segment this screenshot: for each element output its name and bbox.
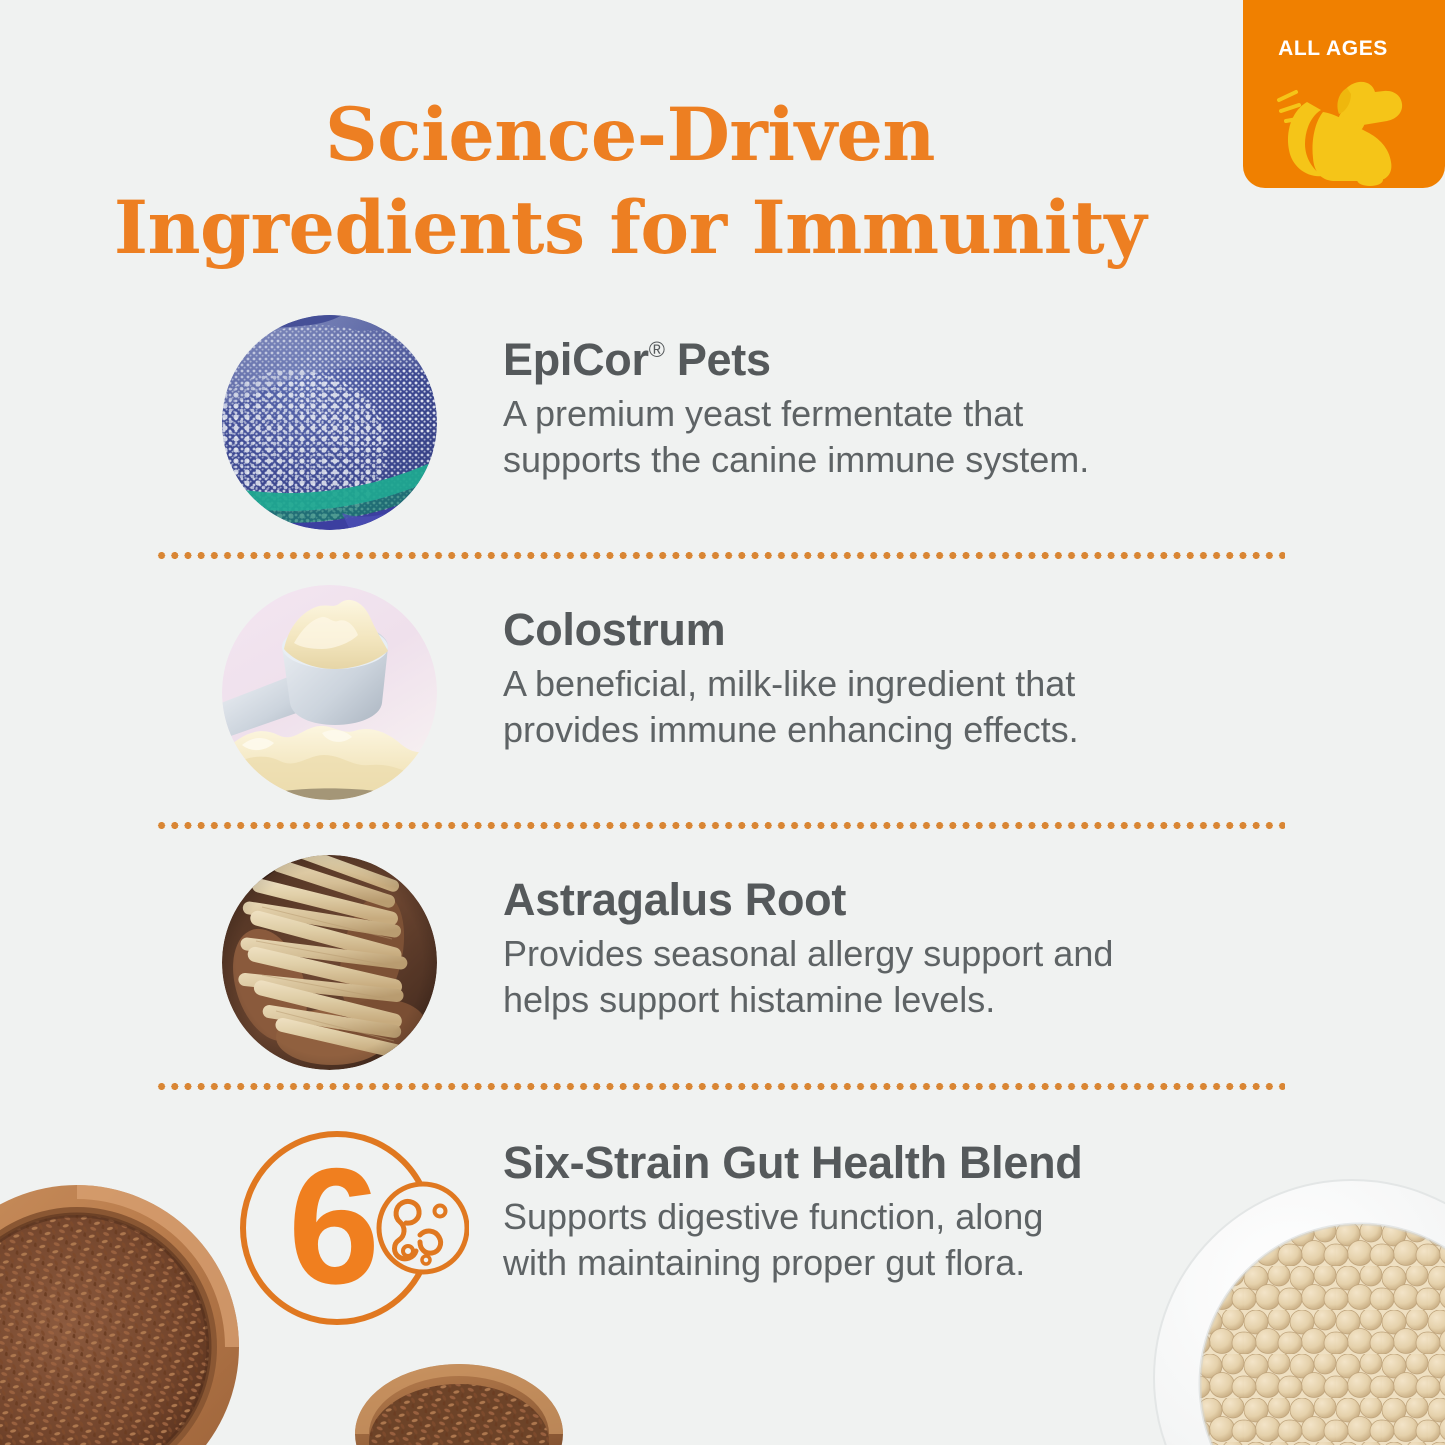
petri-dish-yeast-culture-photo	[222, 315, 437, 530]
ingredient-desc-six-strain-line-1: Supports digestive function, along	[503, 1194, 1233, 1240]
divider-2	[155, 822, 1285, 829]
ingredient-row-colostrum: Colostrum A beneficial, milk-like ingred…	[0, 585, 1445, 800]
astragalus-root-slices-photo	[222, 855, 437, 1070]
ingredient-desc-epicor-line-1: A premium yeast fermentate that	[503, 391, 1233, 437]
ingredient-text-six-strain: Six-Strain Gut Health Blend Supports dig…	[503, 1140, 1233, 1286]
colostrum-powder-scoop-photo	[222, 585, 437, 800]
all-ages-badge-label: ALL AGES	[1243, 37, 1423, 61]
ingredient-desc-six-strain-line-2: with maintaining proper gut flora.	[503, 1240, 1233, 1286]
ingredient-row-six-strain: Six-Strain Gut Health Blend Supports dig…	[0, 1140, 1445, 1340]
ingredient-title-epicor: EpiCor® Pets	[503, 337, 1233, 383]
ingredient-text-astragalus: Astragalus Root Provides seasonal allerg…	[503, 877, 1233, 1023]
ingredient-title-epicor-main: EpiCor	[503, 334, 649, 385]
wooden-spoon-flaxseed-photo	[352, 1338, 567, 1445]
sitting-dog-icon	[1263, 66, 1423, 188]
divider-1	[155, 552, 1285, 559]
ingredient-title-astragalus: Astragalus Root	[503, 877, 1233, 923]
page-title-line-2: Ingredients for Immunity	[0, 179, 1260, 278]
ingredient-desc-astragalus: Provides seasonal allergy support and he…	[503, 931, 1233, 1023]
ingredient-title-epicor-suffix: Pets	[665, 334, 771, 385]
ingredient-desc-colostrum-line-1: A beneficial, milk-like ingredient that	[503, 661, 1233, 707]
ingredient-desc-colostrum: A beneficial, milk-like ingredient that …	[503, 661, 1233, 753]
registered-trademark-icon: ®	[649, 337, 665, 362]
ingredient-title-colostrum: Colostrum	[503, 607, 1233, 653]
infographic-canvas: ALL AGES Science-Driven In	[0, 0, 1445, 1445]
page-title: Science-Driven Ingredients for Immunity	[0, 86, 1260, 279]
ingredient-text-epicor: EpiCor® Pets A premium yeast fermentate …	[503, 337, 1233, 483]
ingredient-row-epicor: EpiCor® Pets A premium yeast fermentate …	[0, 315, 1445, 530]
ingredient-desc-epicor: A premium yeast fermentate that supports…	[503, 391, 1233, 483]
ingredient-row-astragalus: Astragalus Root Provides seasonal allerg…	[0, 855, 1445, 1070]
page-title-line-1: Science-Driven	[0, 86, 1260, 185]
ingredient-desc-epicor-line-2: supports the canine immune system.	[503, 437, 1233, 483]
ingredient-text-colostrum: Colostrum A beneficial, milk-like ingred…	[503, 607, 1233, 753]
all-ages-badge: ALL AGES	[1243, 0, 1445, 188]
ingredient-title-six-strain: Six-Strain Gut Health Blend	[503, 1140, 1233, 1186]
divider-3	[155, 1083, 1285, 1090]
ingredient-desc-astragalus-line-1: Provides seasonal allergy support and	[503, 931, 1233, 977]
ingredient-desc-astragalus-line-2: helps support histamine levels.	[503, 977, 1233, 1023]
ingredient-desc-six-strain: Supports digestive function, along with …	[503, 1194, 1233, 1286]
ingredient-desc-colostrum-line-2: provides immune enhancing effects.	[503, 707, 1233, 753]
